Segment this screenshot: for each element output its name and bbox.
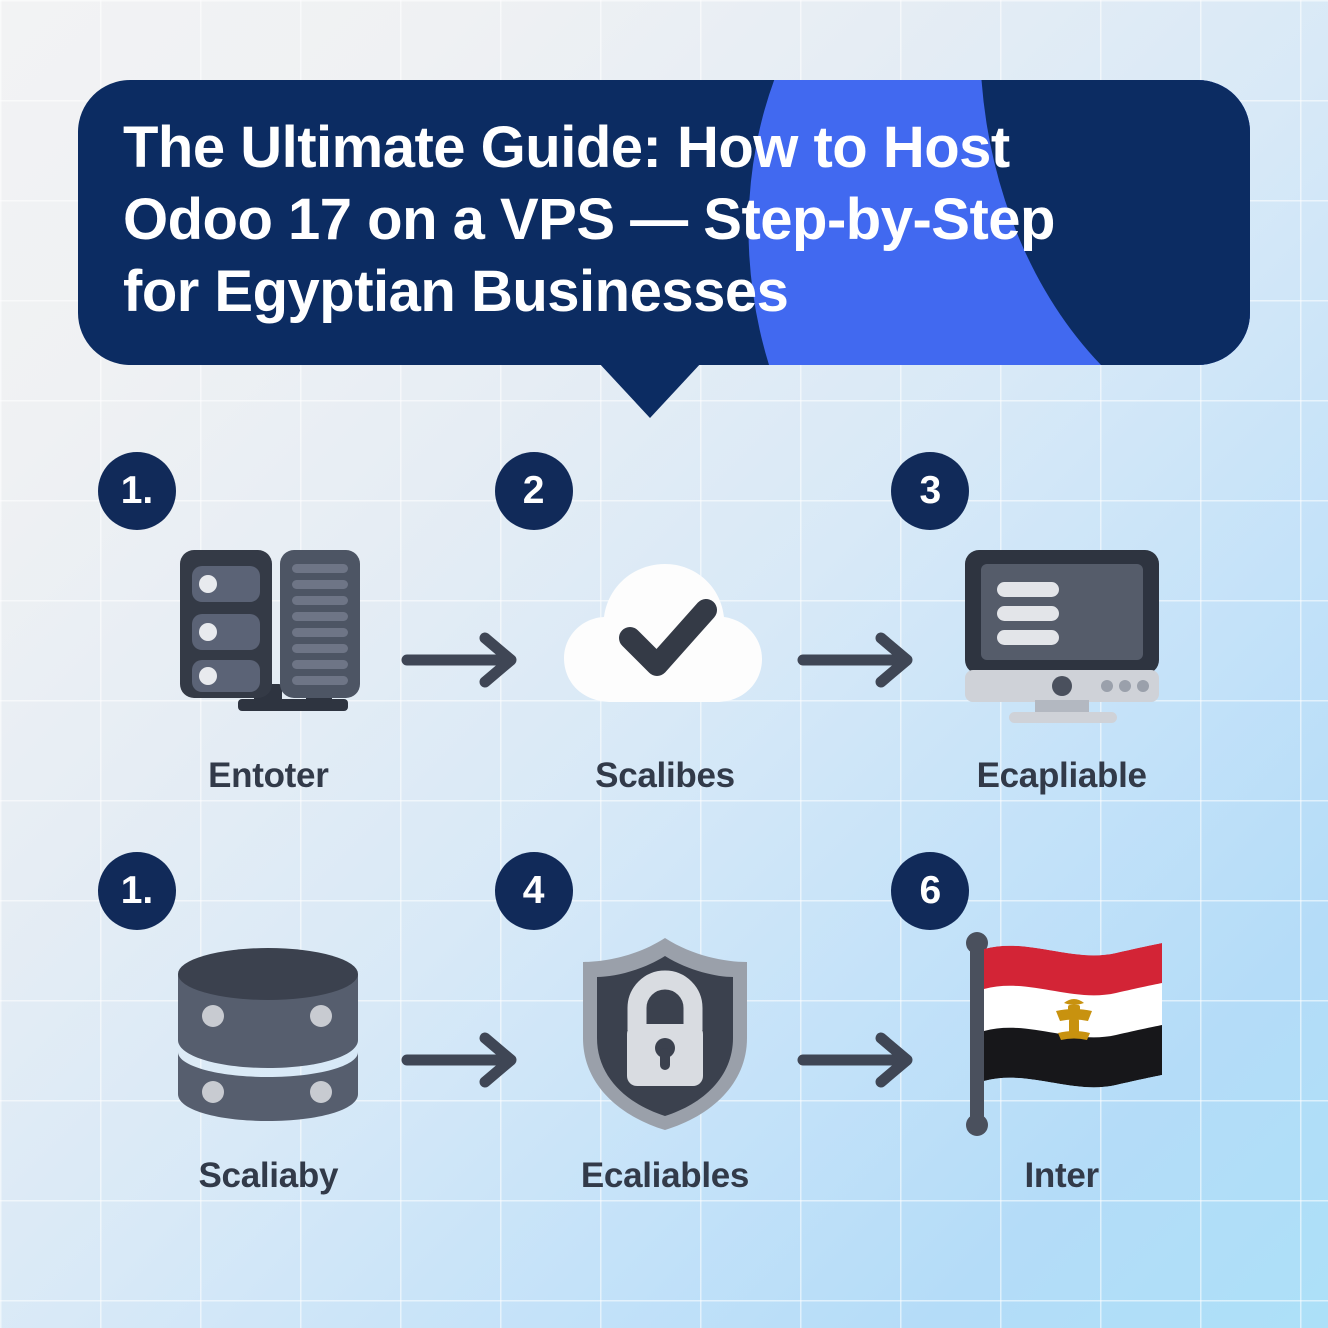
step-label-6: Inter <box>1024 1156 1098 1196</box>
step-label-4: Scaliaby <box>199 1156 339 1196</box>
server-rack-icon <box>148 534 388 734</box>
banner-body: The Ultimate Guide: How to Host Odoo 17 … <box>78 80 1250 365</box>
step-label-3: Ecapliable <box>977 756 1147 796</box>
step-item-1[interactable]: 1. <box>70 452 467 852</box>
step-item-4[interactable]: 1. Scaliaby <box>70 852 467 1252</box>
step-badge-3: 3 <box>891 452 969 530</box>
arrow-right-icon-2 <box>797 630 925 690</box>
arrow-right-icon-3 <box>401 1030 529 1090</box>
step-badge-2: 2 <box>495 452 573 530</box>
title-banner: The Ultimate Guide: How to Host Odoo 17 … <box>78 80 1250 365</box>
arrow-right-icon-4 <box>797 1030 925 1090</box>
step-badge-4: 1. <box>98 852 176 930</box>
page-title: The Ultimate Guide: How to Host Odoo 17 … <box>123 112 1153 328</box>
banner-pointer-tail <box>598 362 702 418</box>
step-badge-6: 6 <box>891 852 969 930</box>
egypt-flag-icon <box>942 934 1182 1134</box>
database-icon <box>148 934 388 1134</box>
arrow-right-icon-1 <box>401 630 529 690</box>
step-badge-1: 1. <box>98 452 176 530</box>
desktop-monitor-icon <box>942 534 1182 734</box>
step-label-5: Ecaliables <box>581 1156 749 1196</box>
step-label-1: Entoter <box>208 756 328 796</box>
shield-lock-icon <box>545 934 785 1134</box>
step-label-2: Scalibes <box>595 756 735 796</box>
steps-grid: 1. <box>70 452 1260 1252</box>
infographic-page: The Ultimate Guide: How to Host Odoo 17 … <box>0 0 1328 1328</box>
cloud-check-icon <box>545 534 785 734</box>
step-badge-5: 4 <box>495 852 573 930</box>
